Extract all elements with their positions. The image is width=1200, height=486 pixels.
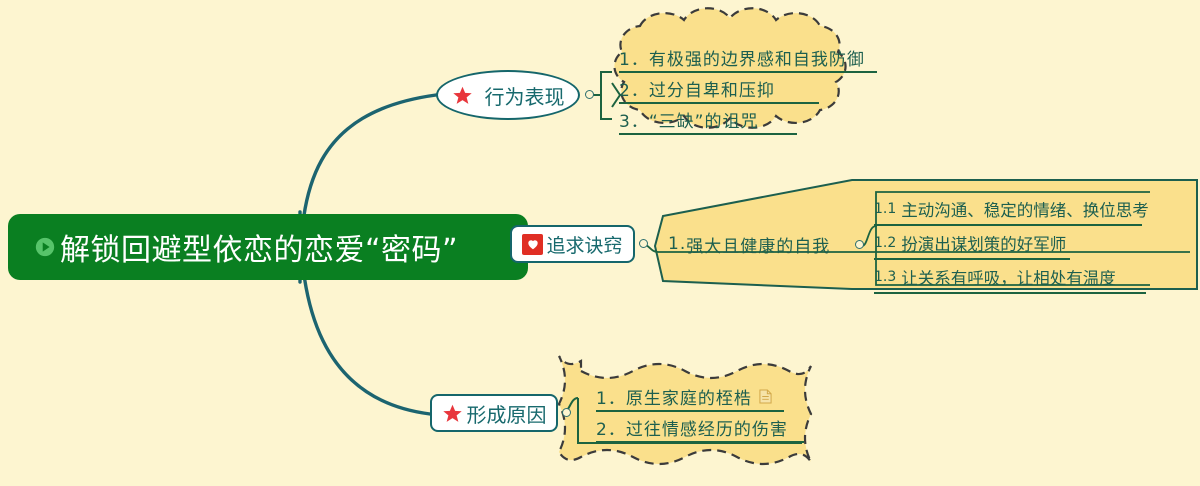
list-item[interactable]: 1． 有极强的边界感和自我防御 <box>619 42 865 73</box>
branch-label-behavior: 行为表现 <box>485 81 565 110</box>
item-text: “三缺”的诅咒 <box>649 107 759 132</box>
branch-node-pursuit[interactable]: 追求诀窍 <box>510 225 635 263</box>
connector-dot-pursuit[interactable] <box>639 239 648 248</box>
item-list-pursuit-sub: 1.1 主动沟通、稳定的情绪、换位思考 1.2 扮演出谋划策的好军师 1.3 让… <box>874 192 1149 294</box>
item-list-cause: 1． 原生家庭的桎梏 2． 过往情感经历的伤害 <box>596 381 788 443</box>
list-item[interactable]: 2． 过分自卑和压抑 <box>619 73 865 104</box>
list-item[interactable]: 1.2 扮演出谋划策的好军师 <box>874 226 1149 260</box>
item-number: 1． <box>619 45 649 70</box>
item-list-pursuit: 1. 强大且健康的自我 <box>668 228 830 260</box>
item-underline <box>619 133 797 135</box>
item-number: 3． <box>619 107 649 132</box>
connector-dot-cause[interactable] <box>562 408 571 417</box>
heart-badge-icon <box>522 234 543 255</box>
connector-dot-behavior[interactable] <box>585 90 594 99</box>
connector-dot-pursuit-sub[interactable] <box>855 240 864 249</box>
list-item[interactable]: 1.3 让关系有呼吸，让相处有温度 <box>874 260 1149 294</box>
item-list-behavior: 1． 有极强的边界感和自我防御 2． 过分自卑和压抑 3． “三缺”的诅咒 <box>619 42 865 135</box>
item-number: 2． <box>596 415 626 440</box>
list-item[interactable]: 3． “三缺”的诅咒 <box>619 104 865 135</box>
item-number: 1.2 <box>874 235 896 251</box>
item-text: 强大且健康的自我 <box>686 232 830 257</box>
list-item[interactable]: 1． 原生家庭的桎梏 <box>596 381 788 412</box>
list-item[interactable]: 2． 过往情感经历的伤害 <box>596 412 788 443</box>
document-icon <box>759 389 772 404</box>
list-item[interactable]: 1.1 主动沟通、稳定的情绪、换位思考 <box>874 192 1149 226</box>
item-number: 1． <box>596 384 626 409</box>
item-underline <box>874 292 1146 294</box>
play-circle-icon <box>34 236 56 258</box>
star-icon <box>442 403 463 424</box>
item-text: 过往情感经历的伤害 <box>626 415 788 440</box>
item-text: 扮演出谋划策的好军师 <box>901 231 1066 255</box>
item-number: 1. <box>668 234 686 254</box>
item-number: 1.3 <box>874 269 896 285</box>
branch-node-behavior[interactable]: 行为表现 <box>436 70 580 120</box>
root-label: 解锁回避型依恋的恋爱“密码” <box>60 225 458 269</box>
item-text: 有极强的边界感和自我防御 <box>649 45 865 70</box>
item-number: 1.1 <box>874 201 896 217</box>
star-icon <box>452 85 473 106</box>
root-node[interactable]: 解锁回避型依恋的恋爱“密码” <box>8 214 528 280</box>
branch-node-cause[interactable]: 形成原因 <box>430 394 558 432</box>
item-underline <box>596 441 804 443</box>
item-text: 原生家庭的桎梏 <box>626 384 752 409</box>
branch-label-cause: 形成原因 <box>467 399 547 428</box>
item-text: 主动沟通、稳定的情绪、换位思考 <box>901 197 1149 221</box>
list-item[interactable]: 1. 强大且健康的自我 <box>668 228 830 260</box>
item-text: 让关系有呼吸，让相处有温度 <box>901 265 1116 289</box>
bracket-behavior <box>601 72 612 119</box>
mindmap-canvas: 解锁回避型依恋的恋爱“密码” 行为表现 追求诀窍 形成原因 1． 有极强的边界感… <box>0 0 1200 486</box>
item-number: 2． <box>619 76 649 101</box>
branch-label-pursuit: 追求诀窍 <box>546 231 622 258</box>
item-text: 过分自卑和压抑 <box>649 76 775 101</box>
